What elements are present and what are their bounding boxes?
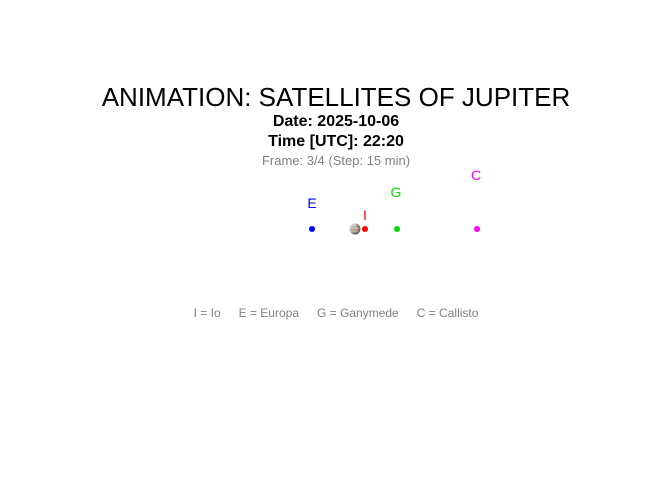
legend-entry: C = Callisto [417,306,479,320]
moon-marker-io [362,226,368,232]
legend-entry: I = Io [194,306,221,320]
moon-label-ganymede: G [391,185,402,199]
moon-marker-europa [309,226,315,232]
moon-marker-ganymede [394,226,400,232]
legend: I = IoE = EuropaG = GanymedeC = Callisto [0,306,672,320]
moon-label-io: I [363,208,367,222]
satellite-plot: IEGC [0,0,672,480]
legend-entry: G = Ganymede [317,306,399,320]
animation-canvas: ANIMATION: SATELLITES OF JUPITER Date: 2… [0,0,672,480]
moon-label-callisto: C [471,168,481,182]
moon-label-europa: E [307,196,316,210]
legend-entry: E = Europa [239,306,299,320]
moon-marker-callisto [474,226,480,232]
jupiter-body [350,224,361,235]
